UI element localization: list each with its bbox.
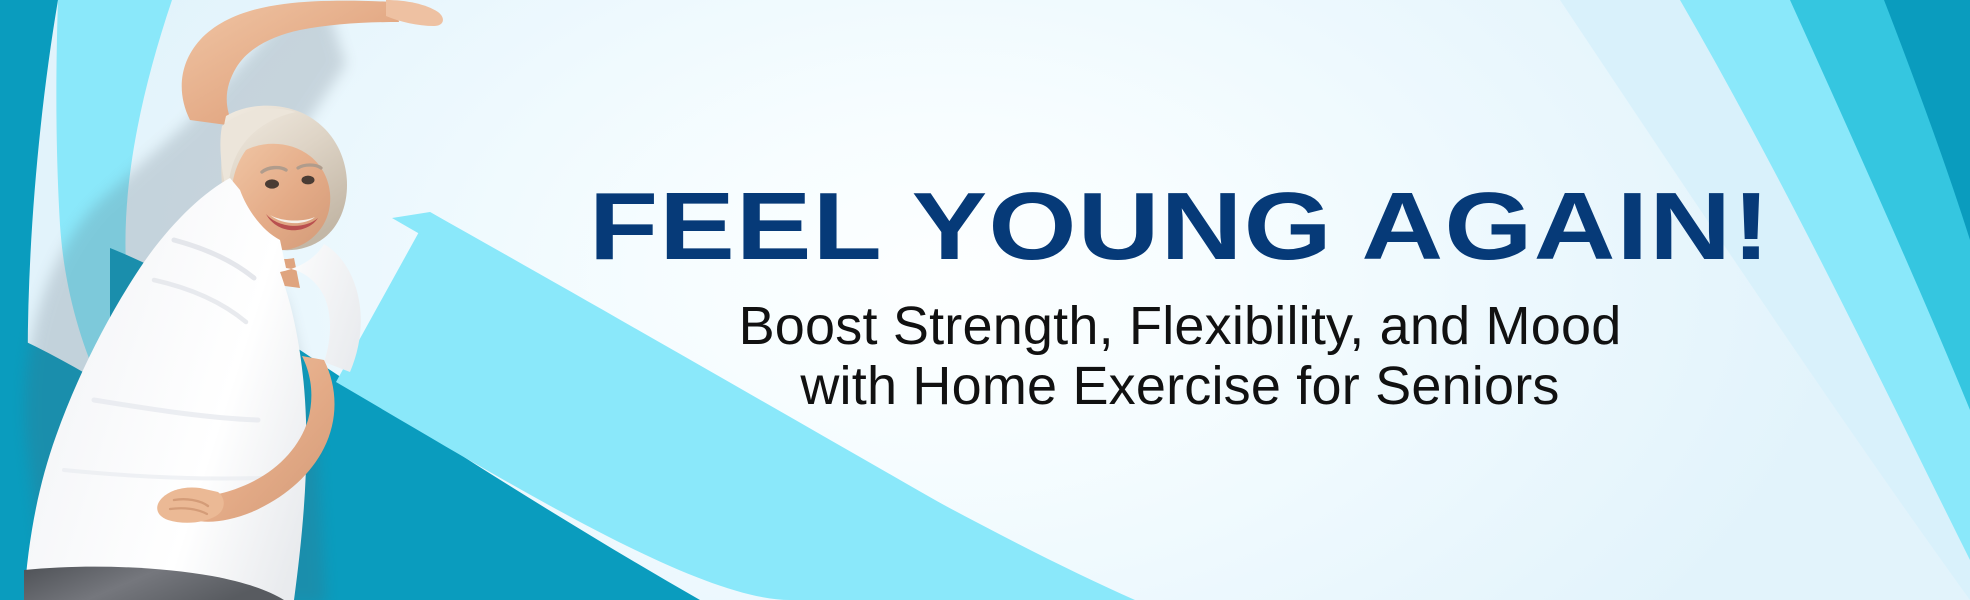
banner-copy: FEEL YOUNG AGAIN! Boost Strength, Flexib… <box>400 0 1960 600</box>
banner-subtitle-line-2: with Home Exercise for Seniors <box>739 356 1622 416</box>
eye-right <box>302 176 315 185</box>
promo-banner: FEEL YOUNG AGAIN! Boost Strength, Flexib… <box>0 0 1970 600</box>
hero-photo <box>0 0 464 600</box>
senior-woman-stretching-illustration <box>0 0 464 600</box>
banner-headline: FEEL YOUNG AGAIN! <box>589 183 1771 271</box>
banner-subtitle-line-1: Boost Strength, Flexibility, and Mood <box>739 296 1622 356</box>
banner-subtitle: Boost Strength, Flexibility, and Mood wi… <box>739 296 1622 417</box>
eye-left <box>265 179 279 188</box>
